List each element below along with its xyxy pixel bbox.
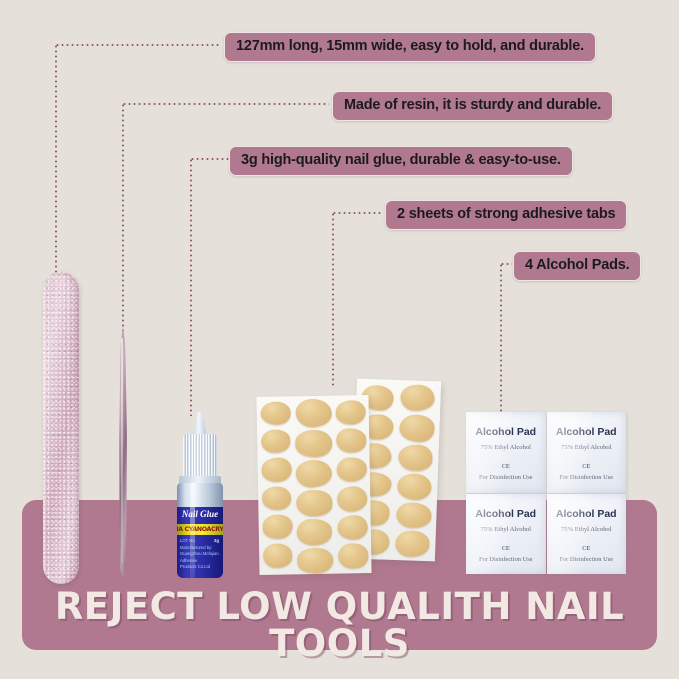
glue-cap [183, 434, 217, 478]
callout-cuticle-pusher[interactable]: Made of resin, it is sturdy and durable. [332, 91, 613, 121]
cuticle-pusher-highlight [121, 338, 123, 563]
alcohol-pad-title: Alcohol Pad [547, 508, 627, 520]
alcohol-pad-ce-mark: CE [547, 464, 627, 470]
alcohol-pad-title: Alcohol Pad [547, 426, 627, 438]
callout-nail-file[interactable]: 127mm long, 15mm wide, easy to hold, and… [224, 32, 596, 62]
nail-file-grain-texture [43, 272, 79, 584]
alcohol-pad-usage: For Disinfection Use [547, 556, 627, 563]
alcohol-pad-1: Alcohol Pad 75% Ethyl Alcohol CE For Dis… [466, 412, 546, 493]
callout-adhesive-tabs[interactable]: 2 sheets of strong adhesive tabs [385, 200, 627, 230]
alcohol-pad-strength: 75% Ethyl Alcohol [466, 526, 546, 533]
glue-label-title: Nail Glue [177, 510, 223, 519]
product-nail-file [43, 272, 79, 584]
alcohol-pad-title: Alcohol Pad [466, 426, 546, 438]
alcohol-pad-strength: 75% Ethyl Alcohol [466, 444, 546, 451]
product-nail-glue-bottle: Nail Glue ALPHA CYANOACRYLATE LOT No. Ma… [170, 412, 230, 578]
glue-bottle-highlight [190, 483, 195, 578]
alcohol-pad-usage: For Disinfection Use [547, 474, 627, 481]
infographic-canvas: 127mm long, 15mm wide, easy to hold, and… [0, 0, 679, 679]
product-alcohol-pads: Alcohol Pad 75% Ethyl Alcohol CE For Dis… [466, 412, 626, 574]
glue-label: Nail Glue ALPHA CYANOACRYLATE LOT No. Ma… [177, 507, 223, 578]
callout-nail-glue[interactable]: 3g high-quality nail glue, durable & eas… [229, 146, 573, 176]
glue-net-weight: 3g [214, 538, 219, 543]
alcohol-pad-usage: For Disinfection Use [466, 556, 546, 563]
product-adhesive-tab-sheets [258, 378, 438, 576]
alcohol-pad-ce-mark: CE [466, 464, 546, 470]
alcohol-pad-2: Alcohol Pad 75% Ethyl Alcohol CE For Dis… [547, 412, 627, 493]
product-cuticle-pusher [116, 326, 130, 578]
glue-ingredient-band: ALPHA CYANOACRYLATE [177, 524, 223, 535]
alcohol-pad-3: Alcohol Pad 75% Ethyl Alcohol CE For Dis… [466, 494, 546, 575]
alcohol-pad-ce-mark: CE [466, 546, 546, 552]
alcohol-pad-title: Alcohol Pad [466, 508, 546, 520]
alcohol-pad-strength: 75% Ethyl Alcohol [547, 444, 627, 451]
glue-bottle-body: Nail Glue ALPHA CYANOACRYLATE LOT No. Ma… [177, 483, 223, 578]
alcohol-pad-usage: For Disinfection Use [466, 474, 546, 481]
alcohol-pad-strength: 75% Ethyl Alcohol [547, 526, 627, 533]
alcohol-pad-ce-mark: CE [547, 546, 627, 552]
adhesive-sheet-front [256, 395, 371, 575]
alcohol-pad-4: Alcohol Pad 75% Ethyl Alcohol CE For Dis… [547, 494, 627, 575]
banner-headline: REJECT LOW QUALITH NAIL TOOLS [22, 588, 657, 662]
callout-alcohol-pads[interactable]: 4 Alcohol Pads. [513, 251, 641, 281]
glue-ingredient-text: ALPHA CYANOACRYLATE [177, 526, 223, 533]
